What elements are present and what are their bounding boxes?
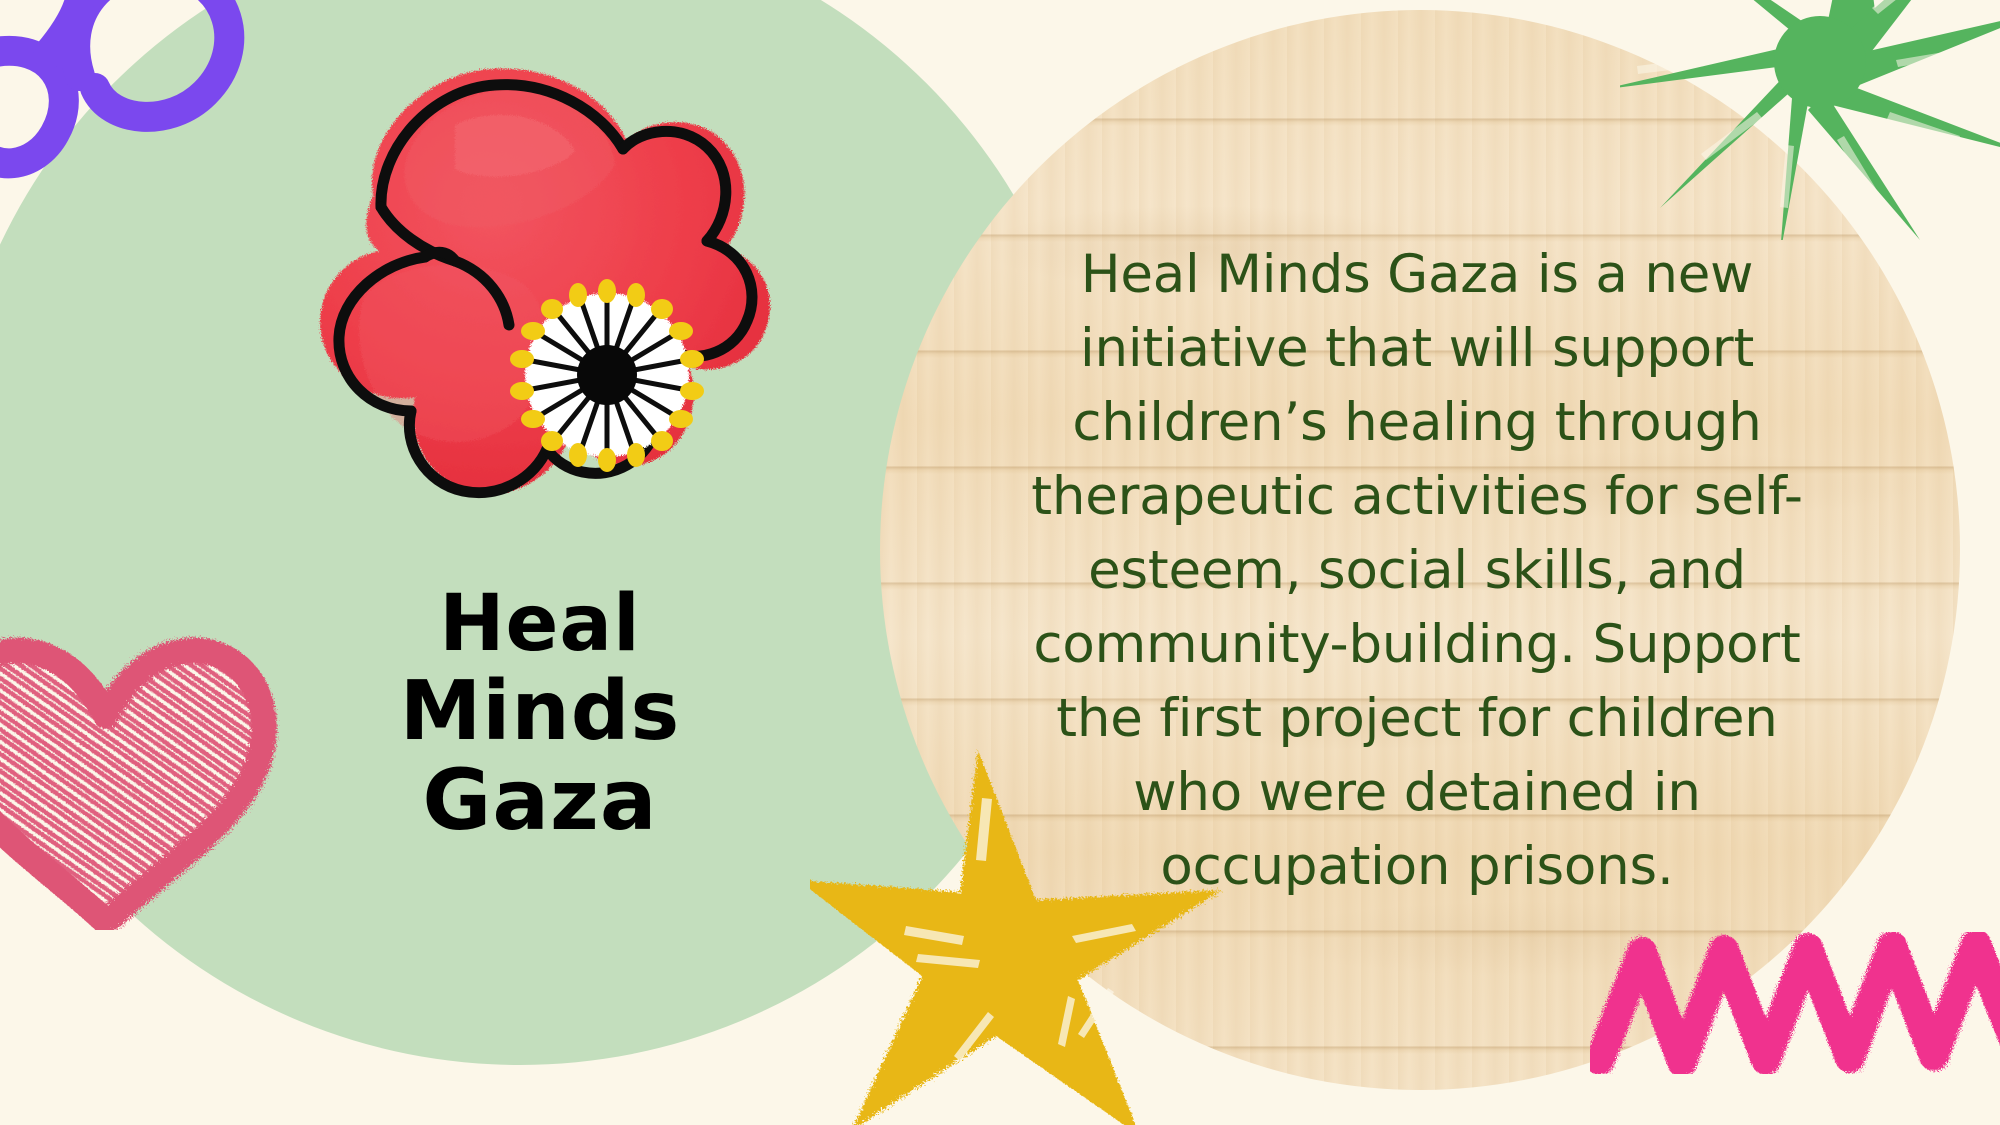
green-starburst-doodle (1620, 0, 2000, 240)
poster-canvas: Heal Minds Gaza is a new initiative that… (0, 0, 2000, 1125)
yellow-star-doodle (810, 740, 1230, 1125)
logo-line-3: Gaza (330, 756, 750, 844)
logo-wordmark: Heal Minds Gaza (330, 580, 750, 844)
pink-heart-doodle (0, 600, 290, 930)
pink-squiggle-doodle (1590, 900, 2000, 1120)
purple-spiral-doodle (0, 0, 260, 258)
logo-line-2: Minds (330, 668, 750, 756)
logo-line-1: Heal (330, 580, 750, 668)
poppy-flower-illustration (255, 45, 815, 605)
